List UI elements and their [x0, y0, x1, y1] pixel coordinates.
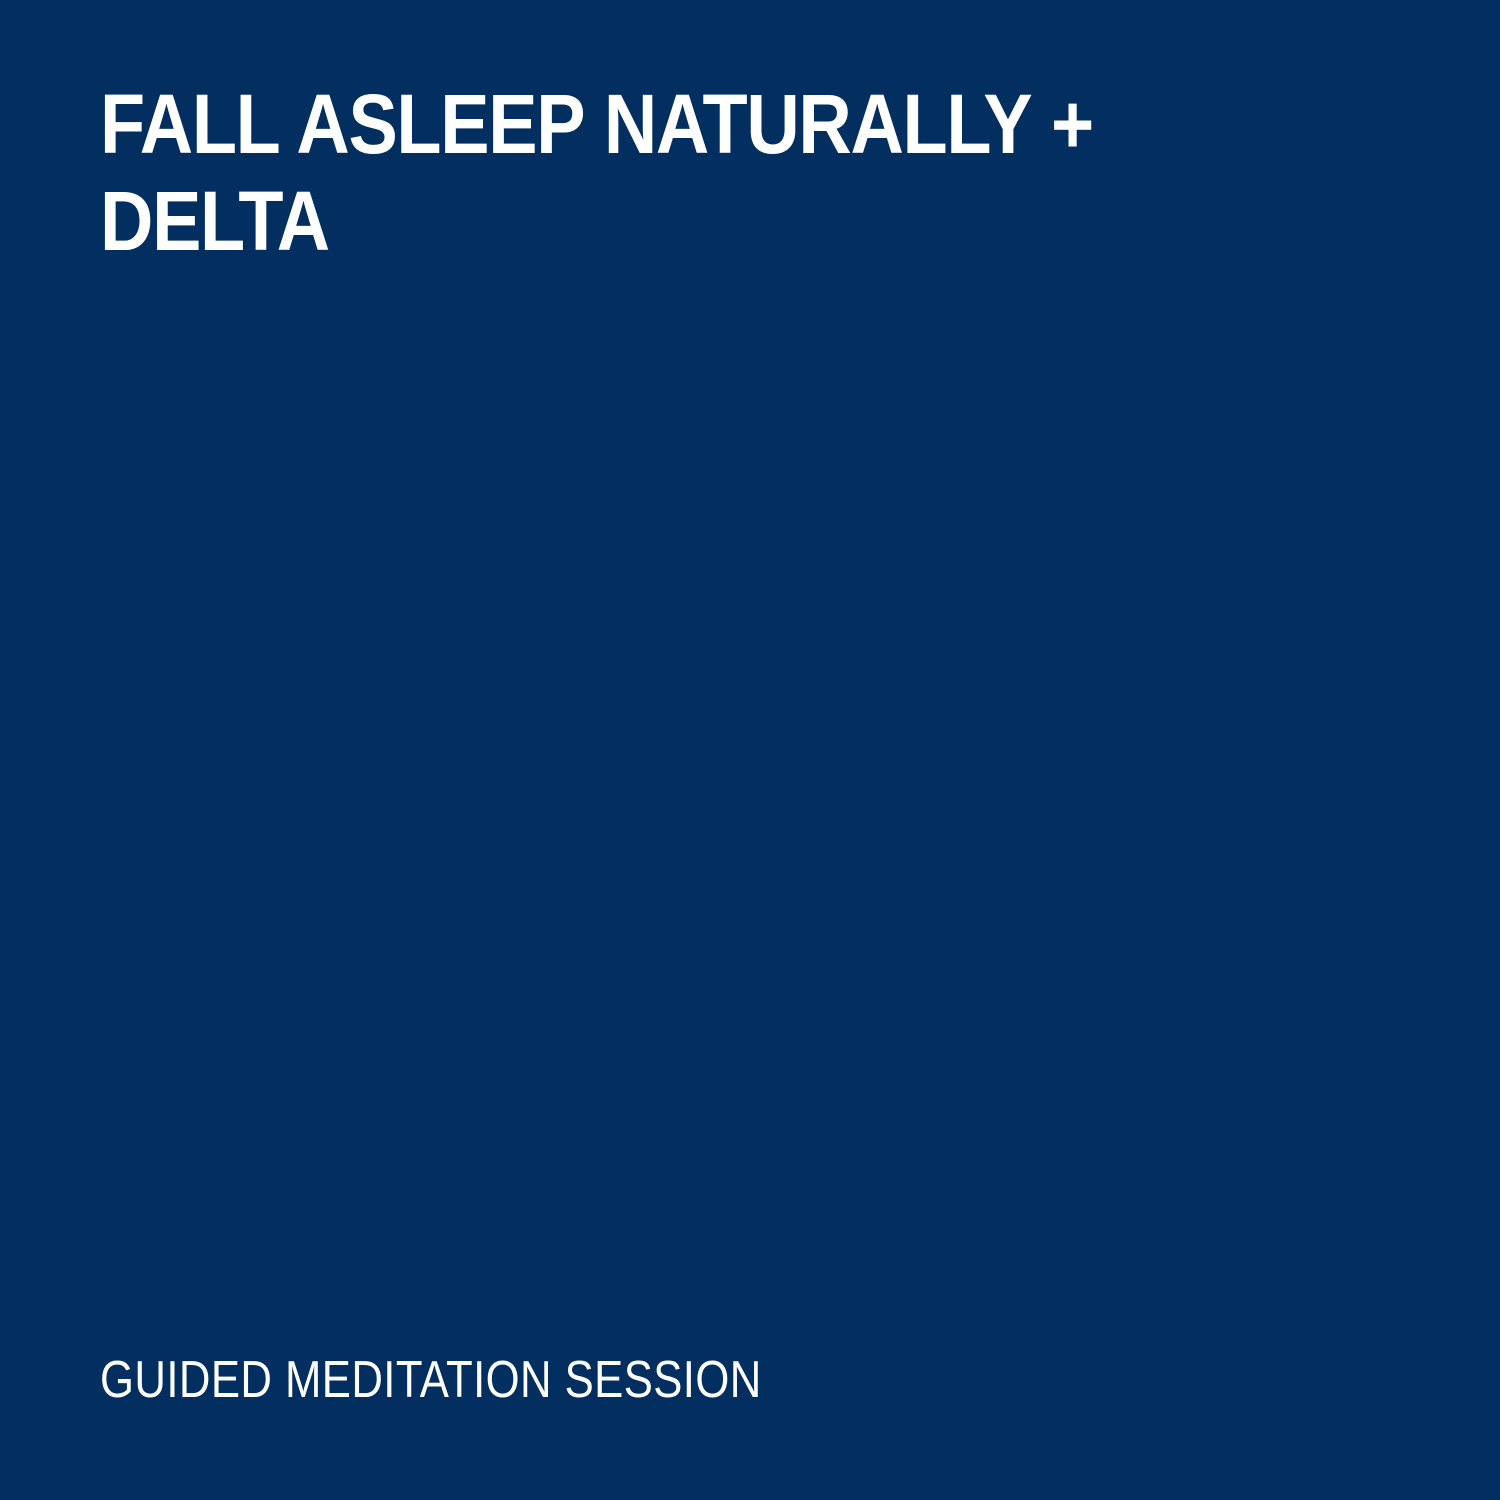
page-title: FALL ASLEEP NATURALLY + DELTA	[100, 76, 1121, 270]
subtitle-label: GUIDED MEDITATION SESSION	[100, 1352, 1192, 1408]
cover-art-canvas: FALL ASLEEP NATURALLY + DELTA GUIDED MED…	[0, 0, 1500, 1500]
footer-block: GUIDED MEDITATION SESSION	[100, 1352, 1400, 1408]
title-block: FALL ASLEEP NATURALLY + DELTA	[100, 76, 1260, 270]
